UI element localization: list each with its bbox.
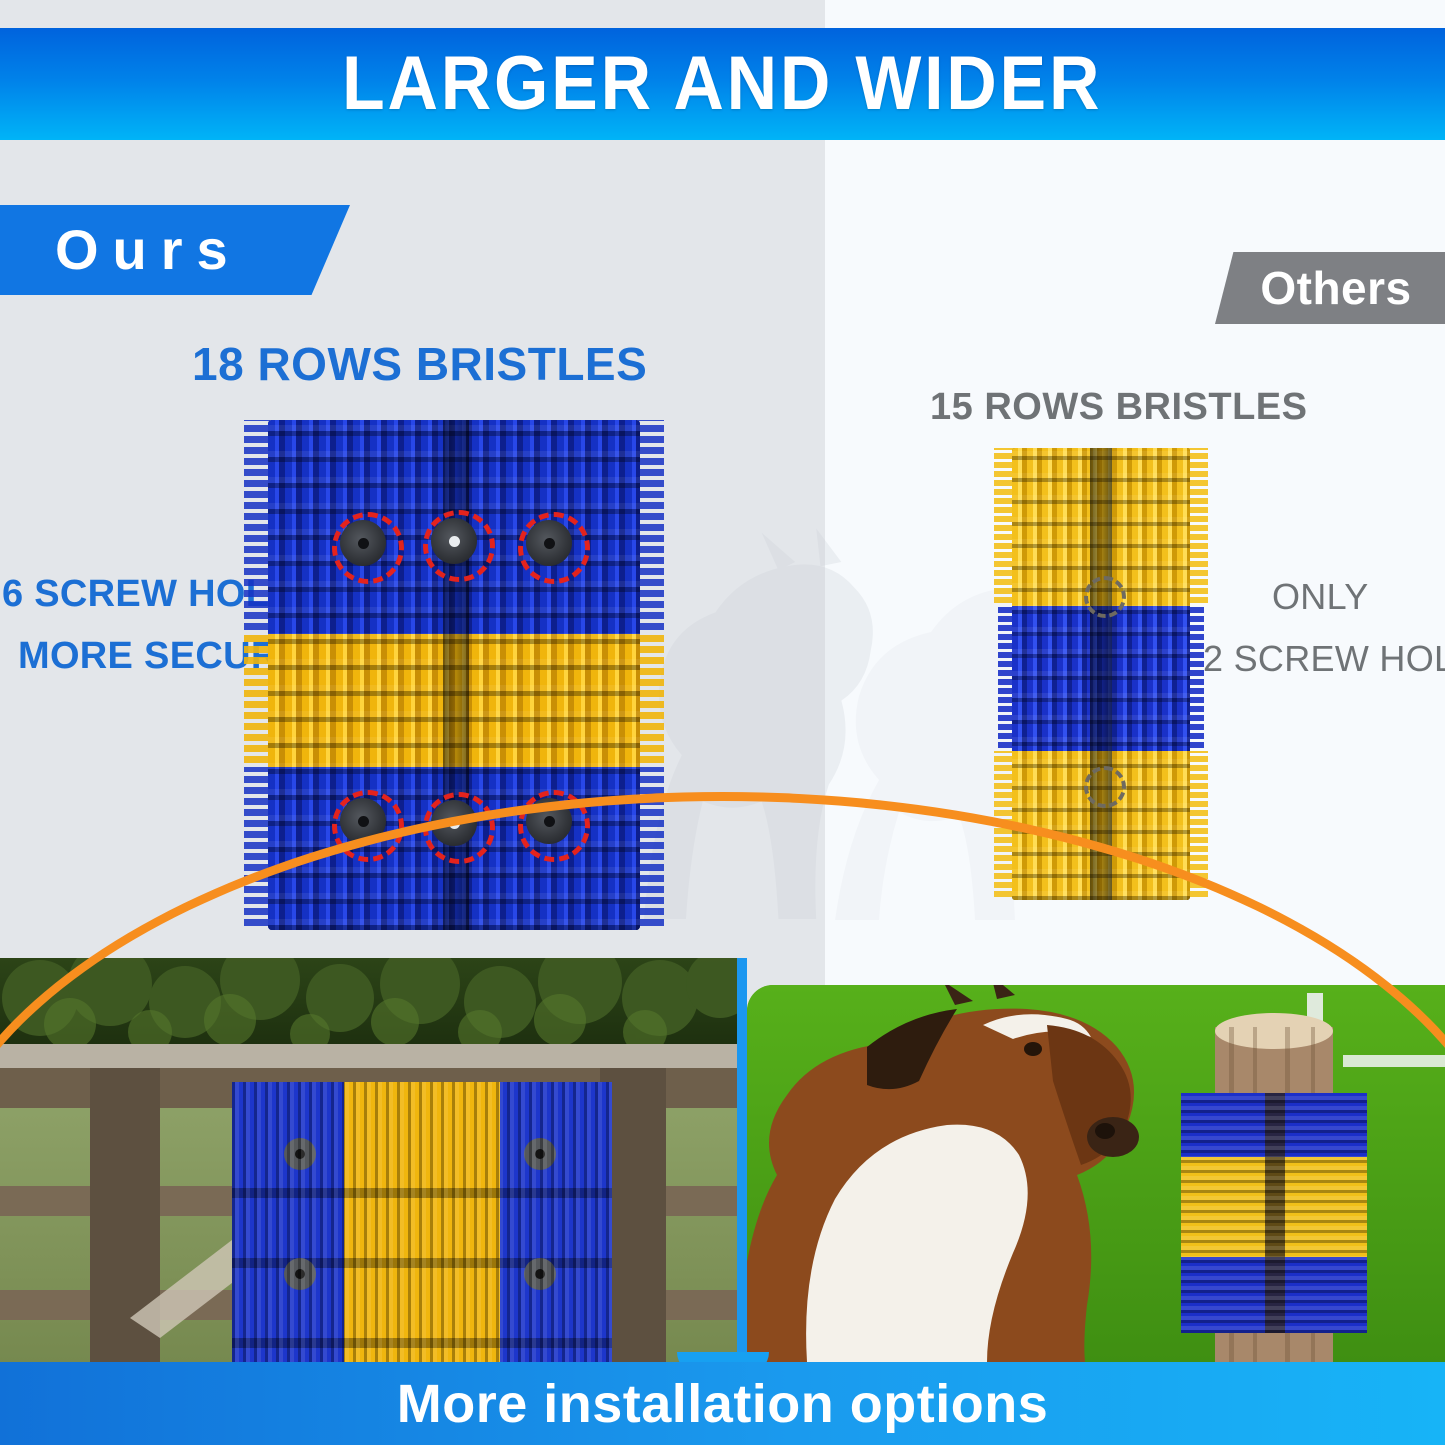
others-screw-hole-1: [1084, 576, 1126, 618]
ours-brush-product-image: [268, 420, 640, 930]
screw-hole-highlight-3: [518, 512, 590, 584]
others-brush-body: [1012, 448, 1190, 900]
others-left-fringe: [994, 448, 1014, 606]
others-left-fringe-lower: [994, 751, 1014, 900]
ours-badge-label: Ours: [0, 222, 242, 278]
infographic-canvas: LARGER AND WIDER Ours Others 18 ROWS BRI…: [0, 0, 1445, 1445]
ours-left-bristle-fringe-yellow: [244, 634, 270, 767]
post-brush-bristle-texture: [1181, 1093, 1367, 1333]
ours-left-bristle-fringe: [244, 420, 270, 634]
others-badge: Others: [1215, 252, 1445, 324]
ours-badge: Ours: [0, 205, 350, 295]
others-right-fringe: [1188, 448, 1208, 606]
others-badge-label: Others: [1248, 265, 1411, 311]
top-banner-title: LARGER AND WIDER: [342, 46, 1102, 122]
others-only-label: ONLY: [1272, 578, 1369, 616]
others-screw-hole-2: [1084, 766, 1126, 808]
bottom-banner-title: More installation options: [397, 1377, 1049, 1431]
ours-rows-label: 18 ROWS BRISTLES: [192, 340, 647, 388]
screw-hole-highlight-5: [423, 792, 495, 864]
photo-divider: [737, 958, 747, 1362]
others-center-spine: [1090, 448, 1111, 900]
fence-brush-bristle-texture: [232, 1082, 612, 1362]
ours-left-bristle-fringe-lower: [244, 767, 270, 930]
screw-hole-highlight-6: [518, 790, 590, 862]
photo-horse-and-post: [747, 985, 1445, 1362]
ours-right-bristle-fringe: [638, 420, 664, 634]
screw-hole-highlight-1: [332, 512, 404, 584]
bottom-banner: More installation options: [0, 1362, 1445, 1445]
ours-brush-body: [268, 420, 640, 930]
ours-right-bristle-fringe-lower: [638, 767, 664, 930]
others-screw-holes-label: 2 SCREW HOLES: [1203, 640, 1445, 678]
screw-hole-highlight-4: [332, 790, 404, 862]
others-brush-product-image: [1012, 448, 1190, 900]
photo-fence-installation: [0, 958, 737, 1362]
top-banner: LARGER AND WIDER: [0, 28, 1445, 140]
ours-right-bristle-fringe-yellow: [638, 634, 664, 767]
others-rows-label: 15 ROWS BRISTLES: [930, 388, 1308, 428]
screw-hole-highlight-2: [423, 510, 495, 582]
others-right-fringe-lower: [1188, 751, 1208, 900]
